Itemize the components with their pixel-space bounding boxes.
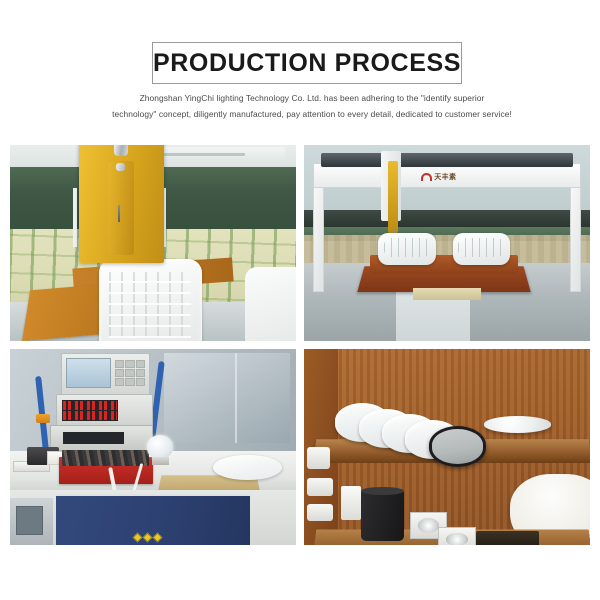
machine-brand-text: 天丰素 [434, 172, 456, 182]
led-readout-display [62, 400, 117, 421]
white-fixture-small [307, 478, 333, 496]
guide-rod-left [73, 188, 78, 247]
page-header: PRODUCTION PROCESS Zhongshan YingChi lig… [0, 0, 600, 140]
wooden-support-block [413, 288, 482, 300]
led-board [109, 272, 191, 338]
dark-equipment-band [304, 210, 590, 228]
keypad-key [136, 378, 145, 386]
keypad-key [136, 369, 145, 377]
white-fixture-small [307, 504, 333, 522]
page-title: PRODUCTION PROCESS [153, 51, 461, 76]
led-readout-row [63, 401, 116, 410]
chrome-valve [114, 145, 129, 156]
photo-finished-lamps [304, 349, 590, 545]
window-panel [164, 353, 290, 443]
sunrise-arc-icon [421, 173, 432, 181]
white-roll-item [341, 486, 361, 519]
photo-dispensing-head [10, 145, 296, 341]
orange-handle [36, 414, 50, 424]
lamp-housing-secondary [245, 267, 296, 341]
test-bulb-base [152, 457, 169, 465]
test-bulb [147, 435, 173, 459]
instrument-lcd-screen [66, 358, 111, 388]
machine-label-plate [153, 147, 285, 163]
round-ceiling-lamp [484, 416, 552, 432]
lamp-row [335, 402, 547, 465]
company-intro: Zhongshan YingChi lighting Technology Co… [92, 90, 532, 123]
lamp-cover-right [453, 233, 510, 264]
blue-equipment-cabinet [56, 494, 250, 545]
white-fixture-small [307, 447, 330, 469]
keypad-key [115, 360, 124, 368]
dispensing-needle [118, 205, 120, 222]
warning-label-group [134, 534, 161, 541]
lamp-cover-left [378, 233, 435, 264]
warning-diamond-icon [132, 532, 142, 542]
keypad-key [115, 369, 124, 377]
recessed-downlight-box [438, 527, 475, 545]
dark-shelf-item [476, 531, 539, 545]
page-title-box: PRODUCTION PROCESS [152, 42, 462, 84]
lamp-housing [99, 259, 202, 341]
keypad-key [115, 378, 124, 386]
keypad-key [136, 360, 145, 368]
photo-gantry-machine: 天丰素 [304, 145, 590, 341]
finished-lamp-sample [213, 455, 282, 480]
chrome-fitting [116, 163, 125, 172]
robot-dispensing-head [79, 145, 165, 263]
keypad-key [125, 369, 134, 377]
warning-diamond-icon [152, 532, 162, 542]
process-photo-grid: 天丰素 [10, 145, 590, 555]
measuring-instrument-top [61, 353, 150, 396]
machine-brand-logo: 天丰素 [421, 169, 484, 187]
measuring-instrument-bottom [50, 425, 153, 450]
led-readout-row [63, 411, 116, 420]
gantry-rail [321, 153, 573, 167]
production-process-page: PRODUCTION PROCESS Zhongshan YingChi lig… [0, 0, 600, 600]
cabinet-side-panel [10, 498, 53, 545]
keypad-key [125, 378, 134, 386]
black-bucket [361, 490, 404, 541]
company-intro-line-1: Zhongshan YingChi lighting Technology Co… [92, 90, 532, 106]
oval-lamp-black-trim [429, 426, 486, 467]
company-intro-line-2: technology" concept, diligently manufact… [92, 106, 532, 122]
instrument-keypad [115, 360, 144, 386]
dispensing-barrel [108, 161, 134, 256]
digital-power-meter [56, 394, 153, 427]
warning-diamond-icon [142, 532, 152, 542]
keypad-key [125, 360, 134, 368]
dispensing-barrel [388, 161, 398, 234]
photo-test-bench [10, 349, 296, 545]
